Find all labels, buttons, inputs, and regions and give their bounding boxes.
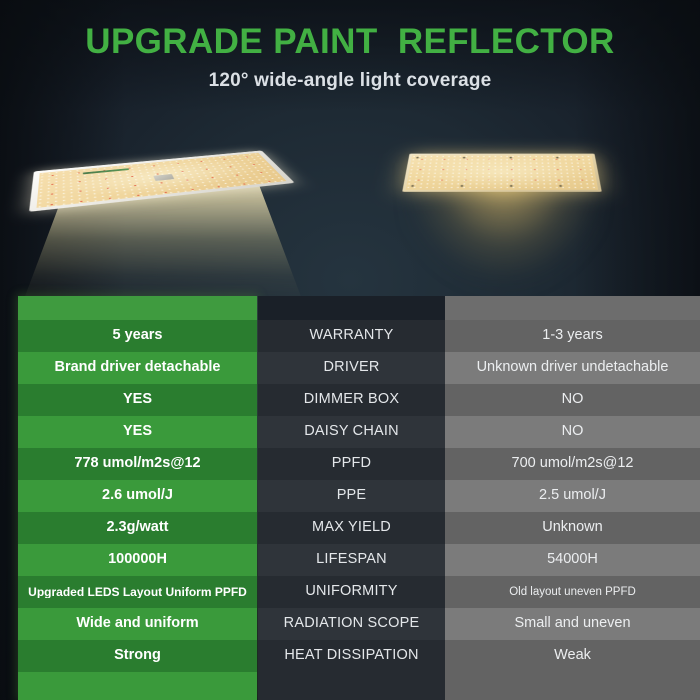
table-row: NO — [445, 416, 700, 448]
cell-ours: YES — [24, 424, 251, 439]
table-row: DRIVER — [258, 352, 445, 384]
cell-feature: DAISY CHAIN — [264, 424, 439, 439]
feature-footer-strip — [258, 672, 445, 700]
cell-theirs: Unknown driver undetachable — [451, 360, 694, 375]
cell-feature: WARRANTY — [264, 328, 439, 343]
cell-feature: LIFESPAN — [264, 552, 439, 567]
cell-feature: PPFD — [264, 456, 439, 471]
table-row: Wide and uniform — [18, 608, 257, 640]
right-panel-face — [406, 155, 599, 190]
table-row: 2.3g/watt — [18, 512, 257, 544]
table-row: DIMMER BOX — [258, 384, 445, 416]
cell-ours: 2.6 umol/J — [24, 488, 251, 503]
table-row: Unknown driver undetachable — [445, 352, 700, 384]
infographic-stage: UPGRADE PAINT REFLECTOR 120° wide-angle … — [0, 0, 700, 700]
cell-theirs: Old layout uneven PPFD — [451, 586, 694, 598]
header: UPGRADE PAINT REFLECTOR 120° wide-angle … — [0, 0, 700, 92]
table-row: Unknown — [445, 512, 700, 544]
table-row: 700 umol/m2s@12 — [445, 448, 700, 480]
right-led-panel — [402, 154, 602, 192]
cell-feature: DRIVER — [264, 360, 439, 375]
cell-feature: PPE — [264, 488, 439, 503]
table-row: LIFESPAN — [258, 544, 445, 576]
table-row: 5 years — [18, 320, 257, 352]
table-row: Upgraded LEDS Layout Uniform PPFD — [18, 576, 257, 608]
column-our-product: 5 years Brand driver detachable YES YES … — [18, 296, 257, 700]
cell-ours: YES — [24, 392, 251, 407]
table-row: 1-3 years — [445, 320, 700, 352]
column-feature-labels: WARRANTY DRIVER DIMMER BOX DAISY CHAIN P… — [258, 296, 445, 700]
cell-theirs: 54000H — [451, 552, 694, 567]
feature-header-strip — [258, 296, 445, 320]
competitor-header-strip — [445, 296, 700, 320]
table-row: 2.5 umol/J — [445, 480, 700, 512]
cell-feature: MAX YIELD — [264, 520, 439, 535]
our-product-header-strip — [18, 296, 257, 320]
comparison-table: 5 years Brand driver detachable YES YES … — [0, 296, 700, 700]
cell-theirs: 2.5 umol/J — [451, 488, 694, 503]
table-row: PPE — [258, 480, 445, 512]
table-row: Small and uneven — [445, 608, 700, 640]
cell-ours: Wide and uniform — [24, 616, 251, 631]
left-panel-center-chip — [153, 174, 174, 181]
table-row: 54000H — [445, 544, 700, 576]
cell-theirs: Unknown — [451, 520, 694, 535]
cell-theirs: 700 umol/m2s@12 — [451, 456, 694, 471]
cell-theirs: Weak — [451, 648, 694, 663]
page-title: UPGRADE PAINT REFLECTOR — [0, 0, 700, 61]
competitor-footer-strip — [445, 672, 700, 700]
cell-feature: HEAT DISSIPATION — [264, 648, 439, 663]
table-row: PPFD — [258, 448, 445, 480]
cell-theirs: NO — [451, 392, 694, 407]
table-row: 100000H — [18, 544, 257, 576]
cell-feature: DIMMER BOX — [264, 392, 439, 407]
table-row: Weak — [445, 640, 700, 672]
table-row: RADIATION SCOPE — [258, 608, 445, 640]
table-row: YES — [18, 384, 257, 416]
table-row: DAISY CHAIN — [258, 416, 445, 448]
table-row: Strong — [18, 640, 257, 672]
table-row: HEAT DISSIPATION — [258, 640, 445, 672]
cell-ours: 778 umol/m2s@12 — [24, 456, 251, 471]
cell-theirs: Small and uneven — [451, 616, 694, 631]
right-panel-screws — [406, 155, 599, 190]
column-competitor-product: 1-3 years Unknown driver undetachable NO… — [445, 296, 700, 700]
cell-theirs: 1-3 years — [451, 328, 694, 343]
cell-feature: RADIATION SCOPE — [264, 616, 439, 631]
cell-theirs: NO — [451, 424, 694, 439]
cell-ours: 100000H — [24, 552, 251, 567]
table-row: YES — [18, 416, 257, 448]
table-row: UNIFORMITY — [258, 576, 445, 608]
table-row: MAX YIELD — [258, 512, 445, 544]
cell-ours: 2.3g/watt — [24, 520, 251, 535]
table-row: Brand driver detachable — [18, 352, 257, 384]
cell-ours: Brand driver detachable — [24, 360, 251, 375]
our-product-footer-strip — [18, 672, 257, 700]
table-row: Old layout uneven PPFD — [445, 576, 700, 608]
product-comparison-imagery — [0, 108, 700, 308]
table-row: 778 umol/m2s@12 — [18, 448, 257, 480]
table-row: WARRANTY — [258, 320, 445, 352]
cell-ours: 5 years — [24, 328, 251, 343]
table-row: 2.6 umol/J — [18, 480, 257, 512]
cell-ours: Upgraded LEDS Layout Uniform PPFD — [24, 586, 251, 599]
table-row: NO — [445, 384, 700, 416]
page-subtitle: 120° wide-angle light coverage — [0, 61, 700, 92]
cell-ours: Strong — [24, 648, 251, 663]
cell-feature: UNIFORMITY — [264, 584, 439, 599]
